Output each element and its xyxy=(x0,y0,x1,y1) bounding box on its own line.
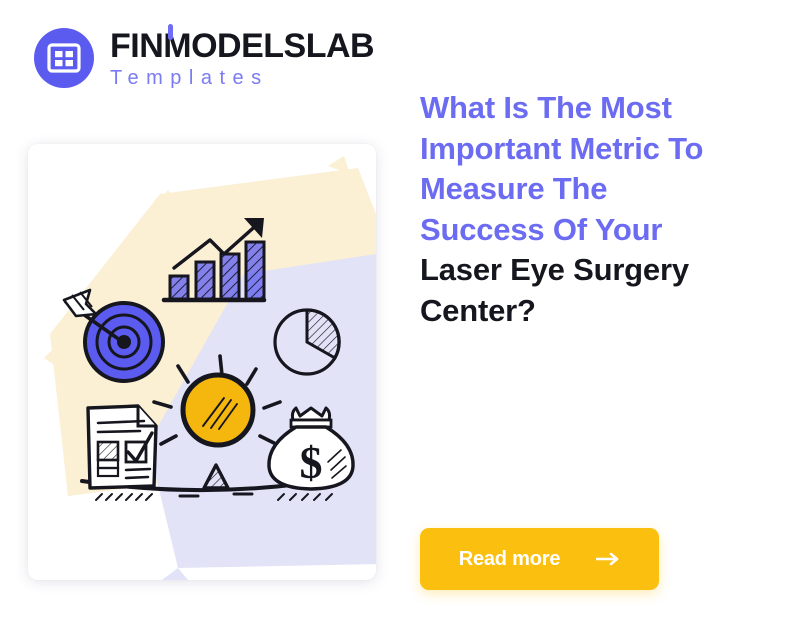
brand-name: FINMODELSLAB xyxy=(110,29,374,63)
headline-line-3: Measure The xyxy=(420,171,607,206)
read-more-button[interactable]: Read more xyxy=(420,528,659,590)
power-mark-icon xyxy=(168,24,173,40)
dollar-symbol: $ xyxy=(300,437,323,488)
brand-tagline: Templates xyxy=(110,68,374,88)
checklist-document-icon xyxy=(88,406,156,500)
page-title: What Is The Most Important Metric To Mea… xyxy=(420,88,764,332)
grid-window-icon xyxy=(34,28,94,88)
headline-line-1: What Is The Most xyxy=(420,90,672,125)
headline-line-5: Laser Eye Surgery xyxy=(420,252,689,287)
headline-line-2: Important Metric To xyxy=(420,131,703,166)
headline-line-6: Center? xyxy=(420,293,536,328)
headline-line-4: Success Of Your xyxy=(420,212,662,247)
illustration-card: $ xyxy=(28,144,376,580)
headline-block: What Is The Most Important Metric To Mea… xyxy=(420,88,764,332)
arrow-right-icon xyxy=(596,552,620,566)
brand-wordmark: FINMODELSLAB Templates xyxy=(110,29,374,88)
promo-banner: FINMODELSLAB Templates xyxy=(0,0,800,618)
brand-logo[interactable]: FINMODELSLAB Templates xyxy=(34,28,374,88)
read-more-label: Read more xyxy=(459,548,561,571)
